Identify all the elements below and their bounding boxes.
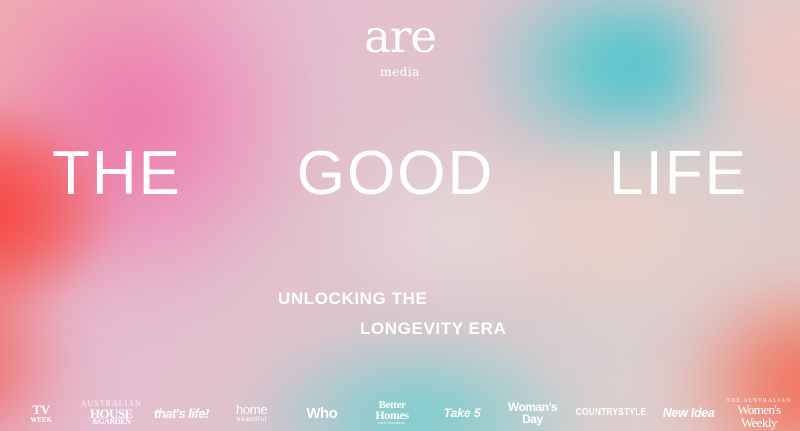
brand-logo-better-homes-and-gardens[interactable]: Better Homes and Gardens — [357, 400, 427, 426]
brand-logo-thats-life[interactable]: that's life! — [146, 407, 216, 420]
logo-wordmark: are — [0, 14, 800, 59]
brand-text: Women's Weekly — [724, 403, 794, 429]
logo-subtext: media — [0, 66, 800, 78]
brand-text: New Idea — [663, 407, 715, 420]
subtitle-line-1: UNLOCKING THE — [0, 284, 800, 314]
brand-text: beautiful — [237, 417, 267, 424]
brand-logo-strip: TV WEEK AUSTRALIAN HOUSE &GARDEN that's … — [0, 395, 800, 431]
brand-logo-take-5[interactable]: Take 5 — [427, 407, 497, 419]
brand-text: &GARDEN — [92, 418, 131, 426]
brand-text: THE AUSTRALIAN — [726, 398, 791, 404]
brand-logo-home-beautiful[interactable]: home beautiful — [217, 403, 287, 424]
brand-text: TV — [32, 403, 49, 416]
brand-text: that's life! — [154, 407, 209, 420]
headline-word-the: THE — [52, 143, 182, 205]
brand-text: Take 5 — [444, 407, 481, 419]
headline-word-good: GOOD — [297, 143, 494, 205]
are-media-logo[interactable]: are media — [0, 14, 800, 78]
brand-text: COUNTRYSTYLE — [575, 408, 646, 418]
brand-logo-womans-day[interactable]: Woman's Day — [497, 401, 567, 425]
brand-logo-who[interactable]: Who — [287, 406, 357, 421]
brand-logo-tv-week[interactable]: TV WEEK — [6, 403, 76, 424]
brand-text: home — [236, 403, 267, 416]
brand-text: WEEK — [30, 417, 52, 424]
brand-logo-new-idea[interactable]: New Idea — [654, 407, 724, 420]
brand-logo-house-and-garden[interactable]: AUSTRALIAN HOUSE &GARDEN — [76, 400, 146, 426]
brand-logo-country-style[interactable]: COUNTRYSTYLE — [568, 408, 654, 418]
brand-text: AUSTRALIAN — [81, 400, 142, 408]
subtitle-line-2: LONGEVITY ERA — [0, 314, 800, 344]
brand-text: Who — [306, 406, 337, 421]
brand-text: Woman's Day — [497, 401, 567, 425]
hero-subtitle: UNLOCKING THE LONGEVITY ERA — [0, 284, 800, 344]
hero-banner: are media THE GOOD LIFE UNLOCKING THE LO… — [0, 0, 800, 431]
hero-headline: THE GOOD LIFE — [0, 143, 800, 205]
brand-text: and Gardens — [379, 421, 406, 426]
brand-logo-womens-weekly[interactable]: THE AUSTRALIAN Women's Weekly — [724, 398, 794, 429]
headline-word-life: LIFE — [609, 143, 748, 205]
